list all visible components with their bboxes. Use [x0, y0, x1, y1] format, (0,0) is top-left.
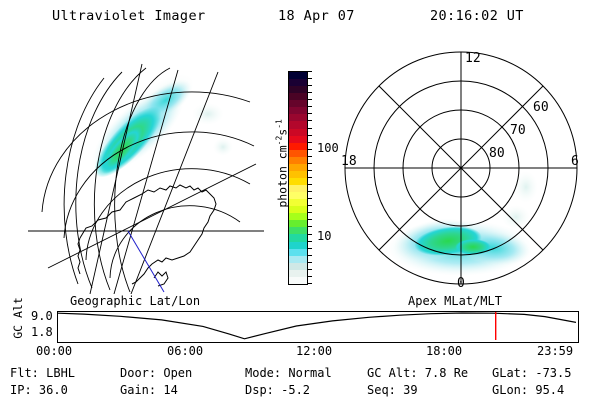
- orbit-xtick-0: 00:00: [36, 344, 72, 358]
- orbit-xtick-3: 18:00: [426, 344, 462, 358]
- observation-time: 20:16:02 UT: [430, 8, 524, 24]
- orbit-xtick-2: 12:00: [296, 344, 332, 358]
- status-seq: Seq: 39: [367, 383, 418, 397]
- mlt-label-bottom: 0: [457, 276, 465, 291]
- status-glon: GLon: 95.4: [492, 383, 564, 397]
- antarctica-coastline: [78, 185, 216, 286]
- status-mode: Mode: Normal: [245, 366, 332, 380]
- mlat-label-60: 60: [533, 100, 549, 115]
- orbit-xtick-1: 06:00: [167, 344, 203, 358]
- orbit-altitude-section: Geographic Lat/Lon Apex MLat/MLT GC Alt …: [0, 294, 600, 360]
- status-bar: Flt: LBHL IP: 36.0 Door: Open Gain: 14 M…: [0, 362, 600, 400]
- status-dsp: Dsp: -5.2: [245, 383, 310, 397]
- apex-grid-rings: [345, 52, 577, 284]
- mlat-label-70: 70: [510, 123, 526, 138]
- status-filter: Flt: LBHL: [10, 366, 75, 380]
- geographic-aurora-emission: [79, 64, 233, 186]
- mlt-label-top: 12: [465, 51, 481, 66]
- gc-alt-axis-title: GC Alt: [11, 288, 25, 348]
- mlt-label-left: 18: [341, 154, 357, 169]
- header-bar: Ultraviolet Imager 18 Apr 07 20:16:02 UT: [0, 0, 600, 34]
- instrument-title: Ultraviolet Imager: [52, 8, 206, 24]
- observation-date: 18 Apr 07: [278, 8, 355, 24]
- colorbar-tick-marks: [307, 71, 315, 285]
- apex-polar-panel[interactable]: 12 18 6 0 60 70 80: [330, 42, 592, 294]
- mlat-label-80: 80: [489, 146, 505, 161]
- orbit-ytick-top: 9.0: [31, 309, 53, 323]
- geographic-projection-plot: [18, 42, 268, 294]
- orbit-altitude-plot[interactable]: [57, 311, 579, 343]
- status-gc-alt: GC Alt: 7.8 Re: [367, 366, 468, 380]
- orbit-altitude-trace: [58, 312, 576, 340]
- status-gain: Gain: 14: [120, 383, 178, 397]
- orbit-ytick-bottom: 1.8: [31, 325, 53, 339]
- colorbar-legend: photon cm-2s-1 100 10: [255, 60, 325, 290]
- colorbar-gradient-swatch: [288, 71, 308, 285]
- apex-panel-caption: Apex MLat/MLT: [408, 294, 502, 308]
- mlt-label-right: 6: [571, 154, 579, 169]
- orbit-trace-line: [58, 313, 576, 339]
- status-ip: IP: 36.0: [10, 383, 68, 397]
- geographic-panel-caption: Geographic Lat/Lon: [70, 294, 200, 308]
- apex-polar-plot: 12 18 6 0 60 70 80: [330, 42, 592, 294]
- geographic-image-panel[interactable]: [18, 42, 268, 294]
- orbit-xtick-4: 23:59: [537, 344, 573, 358]
- status-glat: GLat: -73.5: [492, 366, 571, 380]
- status-door: Door: Open: [120, 366, 192, 380]
